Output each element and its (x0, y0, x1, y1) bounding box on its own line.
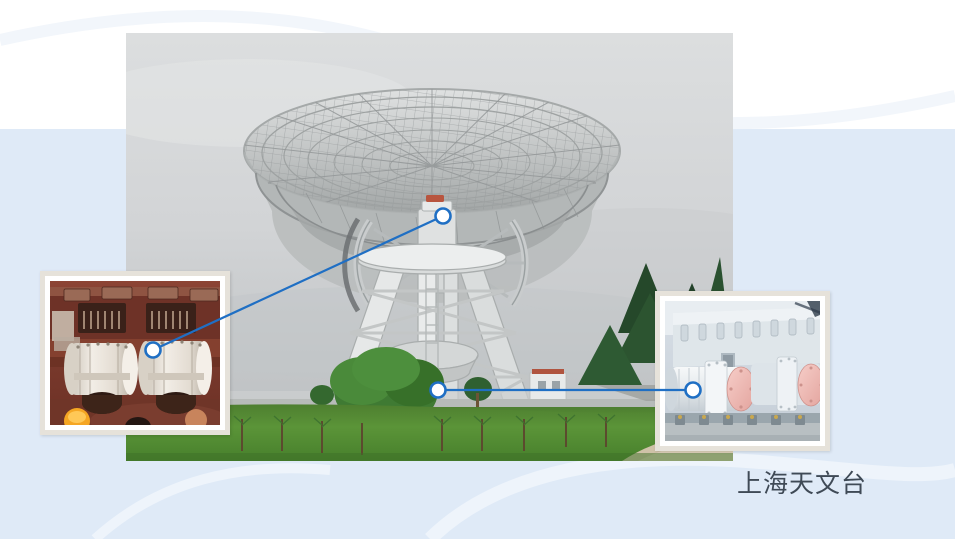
inset-right-image (665, 301, 820, 441)
drive-unit-left-new (665, 361, 755, 417)
gearbox-new-illustration (665, 301, 820, 441)
inset-photo-right (655, 291, 830, 451)
inset-left-mat (45, 276, 225, 430)
inset-left-image (50, 281, 220, 425)
inset-right-mat (660, 296, 825, 446)
page-caption: 上海天文台 (737, 470, 867, 498)
drive-unit-right-new (751, 357, 820, 411)
inset-photo-left (40, 271, 230, 435)
slide-canvas: 上海天文台 (0, 0, 955, 539)
gearbox-old-illustration (50, 281, 220, 425)
